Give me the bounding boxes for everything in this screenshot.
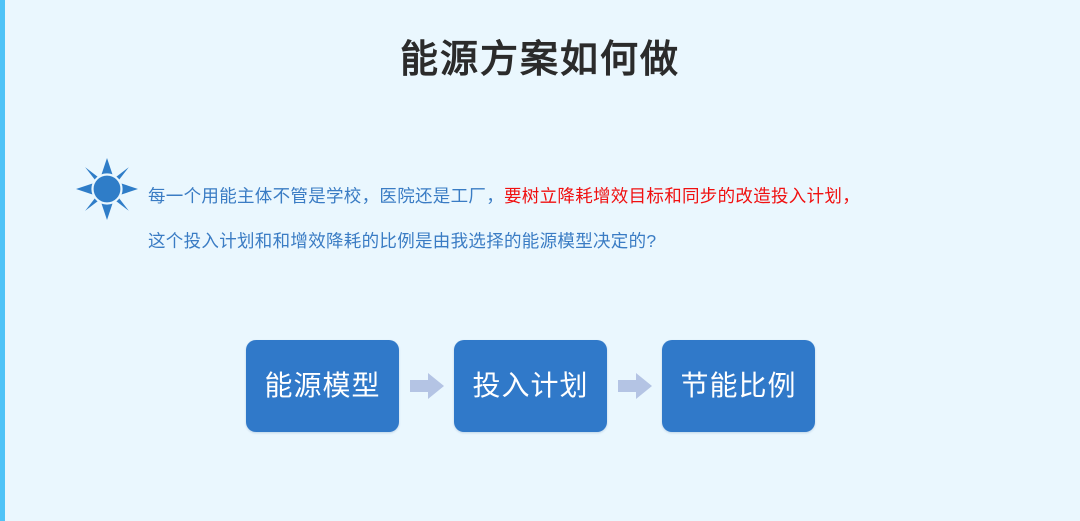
flow-step-label: 能源模型 — [264, 372, 380, 400]
slide-canvas: 能源方案如何做 每一个用能主体不管是学校，医院还是工厂，要树立降耗增效目标和同步… — [0, 0, 1080, 521]
process-flow: 能源模型 投入计划 节能比例 — [246, 340, 815, 432]
bullet-line2-blue-segment: 这个投入计划和和增效降耗的比例是由我选择的能源模型决定的? — [148, 219, 1038, 264]
bullet-paragraph: 每一个用能主体不管是学校，医院还是工厂，要树立降耗增效目标和同步的改造投入计划，… — [148, 174, 1038, 263]
page-title: 能源方案如何做 — [0, 38, 1080, 84]
flow-step-saving-ratio[interactable]: 节能比例 — [662, 340, 815, 432]
flow-step-label: 节能比例 — [680, 372, 796, 400]
flow-step-label: 投入计划 — [472, 372, 588, 400]
arrow-right-icon — [607, 366, 662, 406]
arrow-right-icon — [399, 366, 454, 406]
sun-icon — [76, 158, 138, 220]
flow-step-investment-plan[interactable]: 投入计划 — [454, 340, 607, 432]
bullet-line1-red-segment: 要树立降耗增效目标和同步的改造投入计划， — [504, 186, 860, 206]
flow-step-energy-model[interactable]: 能源模型 — [246, 340, 399, 432]
bullet-line1-blue-segment: 每一个用能主体不管是学校，医院还是工厂， — [148, 186, 504, 206]
